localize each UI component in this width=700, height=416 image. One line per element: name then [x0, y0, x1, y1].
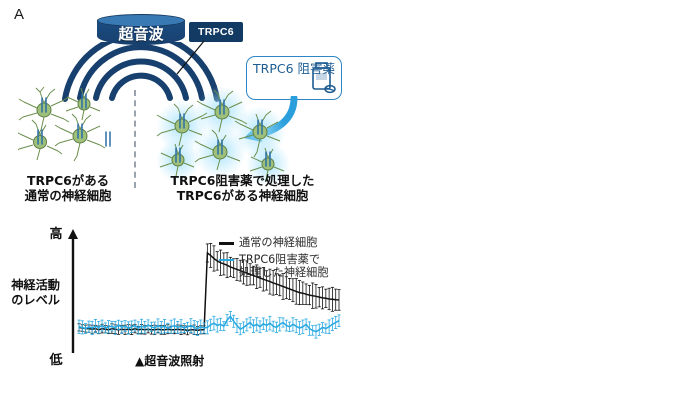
legend-label-treated: TRPC6阻害薬で 処理した神経細胞	[239, 253, 329, 280]
group-divider	[134, 90, 136, 188]
legend-swatch-normal	[219, 242, 234, 245]
legend-swatch-treated	[219, 259, 234, 262]
y-axis-title: 神経活動 のレベル	[0, 278, 60, 308]
neuron-cluster-treated	[148, 82, 308, 186]
legend-label-normal: 通常の神経細胞	[239, 236, 317, 250]
stimulus-trigger-label: ▲超音波照射	[135, 352, 204, 369]
caption-normal-cells: TRPC6がある 通常の神経細胞	[6, 173, 130, 203]
y-axis-high-label: 高	[46, 223, 66, 242]
panel-a-timecourse-chart: 高 低 神経活動 のレベル ▲超音波照射 通常の神経細胞 TRPC6阻害薬で 処…	[0, 222, 350, 392]
panel-a-letter: A	[14, 6, 24, 23]
trpc6-tag: TRPC6	[189, 22, 243, 42]
panel-a: A 超音波 TRPC6 TRPC6 阻害薬	[0, 0, 350, 416]
pill-bottle-icon	[310, 62, 336, 94]
caption-treated-cells: TRPC6阻害薬で処理した TRPC6がある神経細胞	[140, 173, 345, 203]
ultrasound-label: 超音波	[97, 23, 185, 44]
panel-a-legend: 通常の神経細胞 TRPC6阻害薬で 処理した神経細胞	[219, 236, 329, 283]
trpc6-leader-line	[175, 40, 205, 76]
neuron-cluster-normal	[18, 86, 130, 178]
panel-b: B 超音波照射 麻酔をしたマウス	[350, 0, 700, 416]
y-axis-low-label: 低	[46, 349, 66, 368]
legend-item: TRPC6阻害薬で 処理した神経細胞	[219, 253, 329, 280]
legend-item: 通常の神経細胞	[219, 236, 329, 250]
